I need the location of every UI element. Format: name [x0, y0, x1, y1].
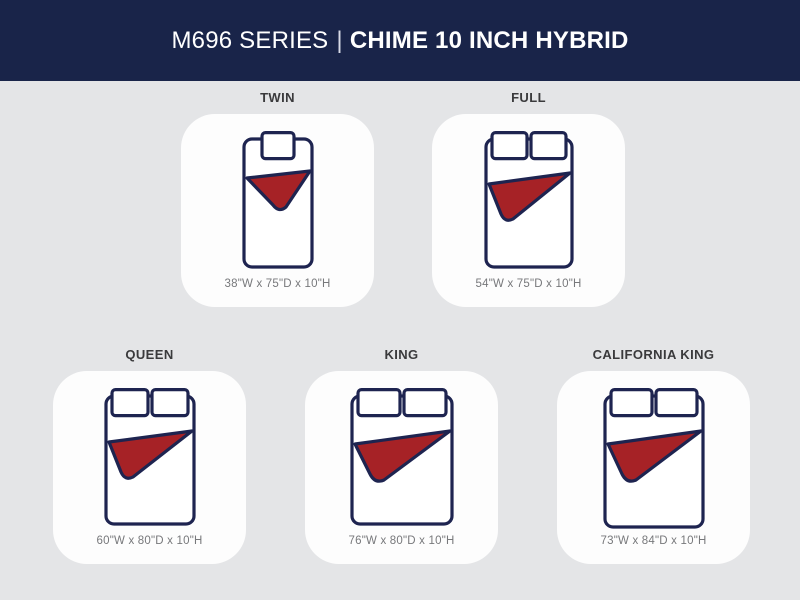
header-bar: M696 SERIES | CHIME 10 INCH HYBRID	[0, 0, 800, 81]
size-dimensions: 54"W x 75"D x 10"H	[432, 278, 625, 290]
size-card[interactable]: 54"W x 75"D x 10"H	[432, 114, 625, 307]
pillow-icon	[404, 390, 446, 416]
pillow-icon	[492, 133, 527, 159]
size-label: TWIN	[181, 89, 374, 106]
pillow-icon	[262, 133, 294, 159]
bed-illustration-twin	[181, 131, 374, 271]
size-block-queen[interactable]: QUEEN 60"W x 80"D x 10"H	[53, 346, 246, 564]
size-dimensions: 76"W x 80"D x 10"H	[305, 535, 498, 547]
size-block-twin[interactable]: TWIN 38"W x 75"D x 10"H	[181, 89, 374, 307]
title-separator: |	[336, 27, 342, 55]
pillow-icon	[152, 390, 188, 416]
size-label: QUEEN	[53, 346, 246, 363]
bed-illustration-full	[432, 131, 625, 271]
series-label: M696 SERIES	[171, 27, 328, 55]
size-card[interactable]: 38"W x 75"D x 10"H	[181, 114, 374, 307]
size-card[interactable]: 60"W x 80"D x 10"H	[53, 371, 246, 564]
size-block-king[interactable]: KING 76"W x 80"D x 10"H	[305, 346, 498, 564]
size-dimensions: 73"W x 84"D x 10"H	[557, 535, 750, 547]
size-dimensions: 38"W x 75"D x 10"H	[181, 278, 374, 290]
size-label: FULL	[432, 89, 625, 106]
size-block-california-king[interactable]: CALIFORNIA KING 73"W x 84"D x 10"H	[557, 346, 750, 564]
pillow-icon	[358, 390, 400, 416]
size-dimensions: 60"W x 80"D x 10"H	[53, 535, 246, 547]
bed-diagram-icon	[476, 131, 582, 271]
pillow-icon	[611, 390, 652, 416]
size-grid: TWIN 38"W x 75"D x 10"H FULL	[0, 81, 800, 600]
bed-diagram-icon	[233, 131, 323, 271]
bed-illustration-california-king	[557, 388, 750, 531]
bed-diagram-icon	[595, 388, 713, 531]
page-title: M696 SERIES | CHIME 10 INCH HYBRID	[171, 27, 628, 55]
pillow-icon	[112, 390, 148, 416]
size-card[interactable]: 76"W x 80"D x 10"H	[305, 371, 498, 564]
size-label: KING	[305, 346, 498, 363]
size-block-full[interactable]: FULL 54"W x 75"D x 10"H	[432, 89, 625, 307]
bed-diagram-icon	[95, 388, 205, 528]
bed-diagram-icon	[342, 388, 462, 528]
size-label: CALIFORNIA KING	[557, 346, 750, 363]
pillow-icon	[531, 133, 566, 159]
bed-illustration-queen	[53, 388, 246, 528]
pillow-icon	[656, 390, 697, 416]
size-card[interactable]: 73"W x 84"D x 10"H	[557, 371, 750, 564]
model-label: CHIME 10 INCH HYBRID	[350, 27, 629, 55]
bed-illustration-king	[305, 388, 498, 528]
